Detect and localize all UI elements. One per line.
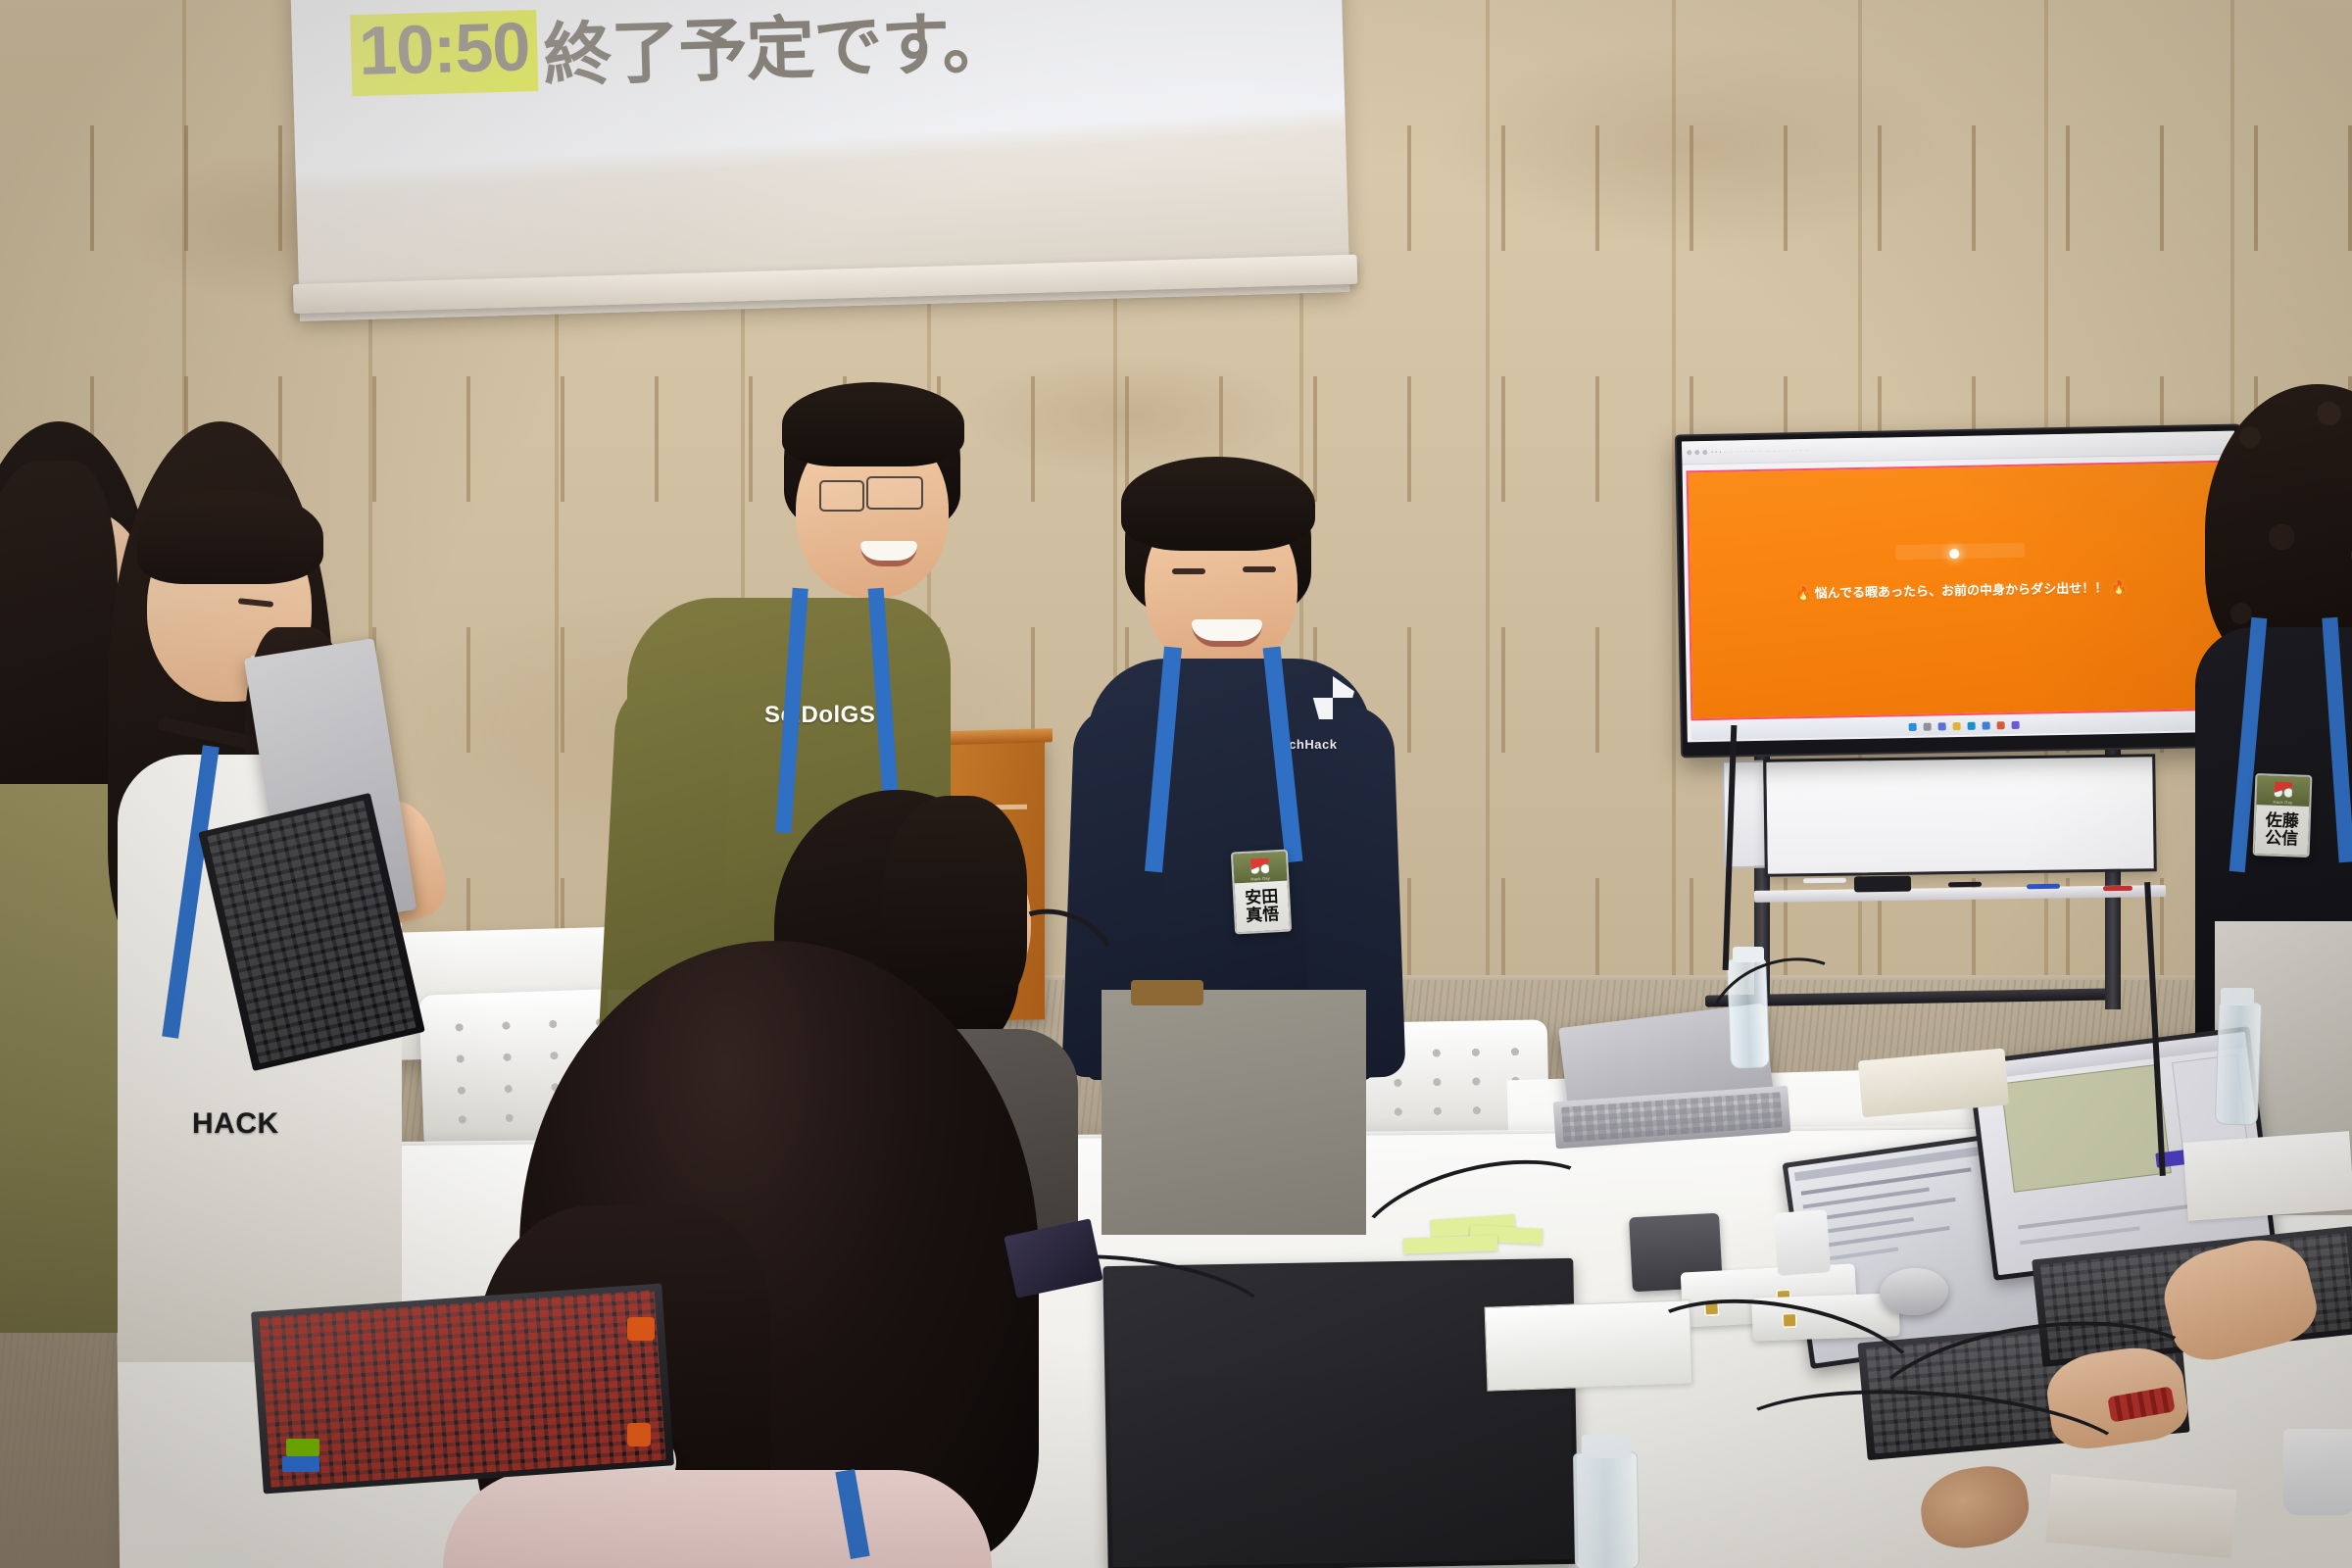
chat-icon[interactable] (1937, 722, 1945, 730)
search-icon[interactable] (1923, 722, 1931, 730)
start-icon[interactable] (1908, 722, 1916, 730)
keyboard-backlit[interactable] (259, 1290, 665, 1488)
nvidia-sticker (286, 1439, 319, 1456)
projector-screen: 10:50 終了予定です。 (290, 0, 1350, 321)
eye (1172, 568, 1205, 574)
badge-yasuda: Hack Day 安田 真悟 (1231, 850, 1292, 935)
badge-givenname: 真悟 (1246, 906, 1280, 925)
tv-screen[interactable]: • • • ·· ·· ··· ·· ··· ·· ··· ·· ·· ·· ·… (1682, 431, 2240, 743)
event-logo-icon (2275, 782, 2293, 801)
mail-icon[interactable] (1982, 721, 1989, 729)
badge-name-text: 佐藤 公信 (2255, 805, 2310, 855)
trousers (1102, 990, 1366, 1235)
tv-slide-text: 🔥 悩んでる暇あったら、お前の中身からダシ出せ！！ 🔥 (1690, 575, 2231, 605)
cursor-dot-icon (1949, 549, 1959, 559)
badge-header: Hack Day (1233, 852, 1288, 884)
keyboard[interactable] (1561, 1092, 1783, 1143)
badge-name-text: 安田 真悟 (1235, 881, 1291, 932)
ac-adapter (1774, 1209, 1831, 1276)
white-marker-icon (1803, 878, 1846, 884)
belt-detail (1131, 980, 1203, 1005)
bottle-cap (1582, 1435, 1631, 1458)
presentation-app-canvas[interactable]: 🔥 悩んでる暇あったら、お前の中身からダシ出せ！！ 🔥 (1687, 461, 2236, 721)
glasses-icon (819, 480, 864, 512)
red-marker-icon (2103, 886, 2132, 891)
blue-marker-icon (2027, 884, 2060, 889)
water-bottle (2215, 1001, 2262, 1125)
scene-photograph: 10:50 終了予定です。 • • • ·· ·· ··· ·· ··· ·· … (0, 0, 2352, 1568)
hair-front (1121, 457, 1315, 551)
whiteboard-eraser-icon (1854, 876, 1911, 893)
edge-icon[interactable] (1967, 721, 1975, 729)
hair-front (782, 382, 964, 466)
teams-icon[interactable] (2011, 720, 2019, 728)
shirt-logo: SciDolGS (764, 702, 875, 729)
status-line (2018, 1204, 2192, 1230)
window-controls-icon (1687, 450, 1707, 455)
spreadsheet-grid[interactable] (2000, 1064, 2172, 1193)
slide-text-line: 10:50 終了予定です。 (350, 0, 1011, 105)
eye (1243, 566, 1276, 572)
bottle-cap (1733, 947, 1764, 962)
torso-pink-top (443, 1470, 992, 1568)
folder-icon[interactable] (1952, 722, 1960, 730)
event-logo-icon (1250, 858, 1269, 877)
hair-side (882, 796, 1027, 1011)
badge-sato: Hack Day 佐藤 公信 (2253, 773, 2313, 857)
badge-event-text: Hack Day (2256, 799, 2309, 806)
badge-givenname: 公信 (2265, 830, 2299, 849)
store-icon[interactable] (1996, 721, 2004, 729)
paper-sheet (2182, 1131, 2352, 1221)
shirt-logo: HACK (192, 1107, 279, 1141)
cup (2283, 1429, 2352, 1515)
status-line (2020, 1226, 2140, 1245)
slide-time-highlight: 10:50 (350, 10, 538, 96)
browser-tabs-text: • • • ·· ·· ··· ·· ··· ·· ··· ·· ·· ·· ·… (1711, 439, 2229, 455)
hair-bangs (137, 490, 323, 584)
whiteboard (1763, 754, 2157, 877)
black-marker-icon (1948, 882, 1982, 887)
slide-ghost-box (1895, 543, 2026, 561)
slide-message: 終了予定です。 (542, 0, 1011, 100)
wall-mounted-tv[interactable]: • • • ·· ·· ··· ·· ··· ·· ··· ·· ·· ·· ·… (1675, 423, 2247, 758)
vent-accent (627, 1423, 651, 1446)
water-bottle (1573, 1451, 1640, 1568)
smile (1192, 619, 1262, 647)
badge-header: Hack Day (2256, 775, 2310, 807)
glasses-icon (866, 476, 923, 510)
intel-sticker (282, 1456, 319, 1472)
bottle-cap (2221, 988, 2254, 1005)
power-led-icon (627, 1317, 655, 1341)
